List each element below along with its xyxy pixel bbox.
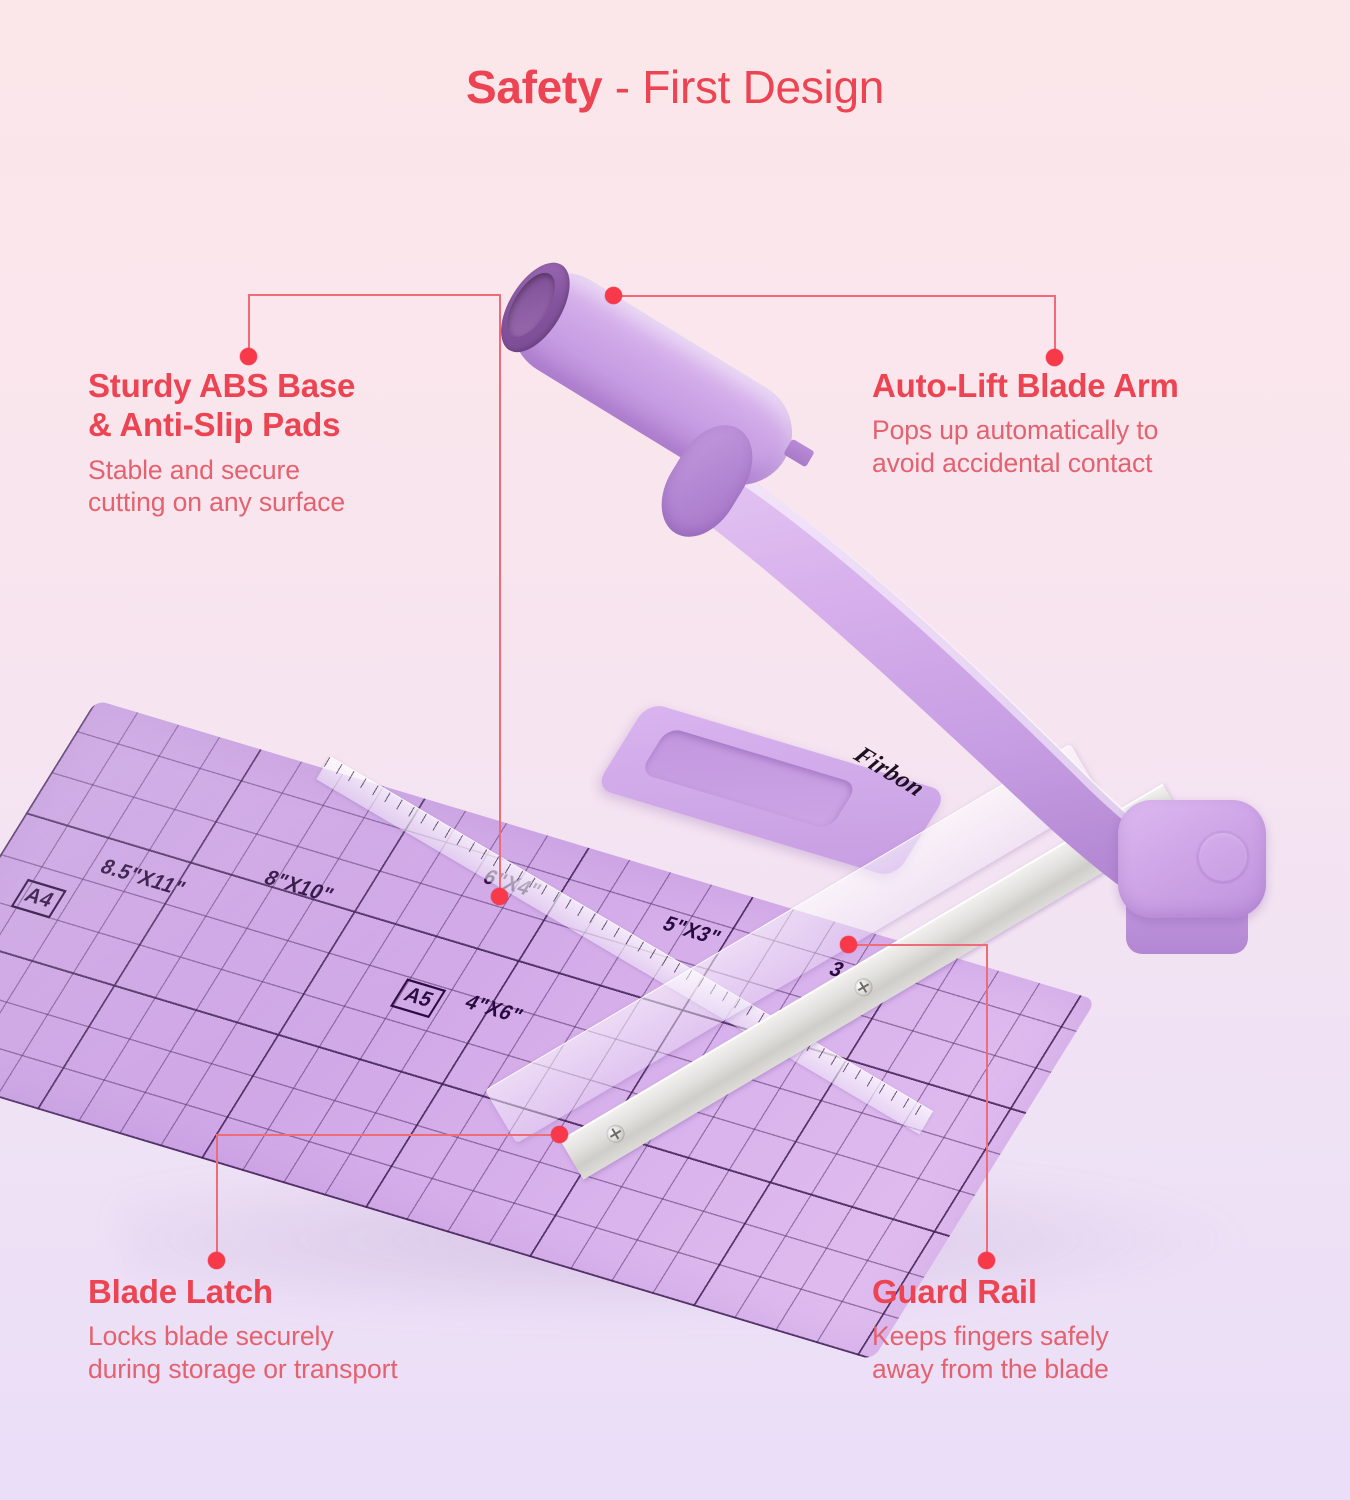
leader-latch-seg2 [216,1134,218,1260]
leader-abs-seg1 [248,294,250,356]
pointer-dot-abs-text [240,348,257,365]
leader-guard-seg2 [986,944,988,1260]
callout-auto-lift-blade-arm: Auto-Lift Blade Arm Pops up automaticall… [872,366,1292,480]
callout-heading: Sturdy ABS Base & Anti-Slip Pads [88,366,508,445]
infographic-canvas: Safety - First Design A4 8.5"X11" 8"X10"… [0,0,1350,1500]
pivot-cap [1196,830,1250,884]
callout-subtext: Locks blade securely during storage or t… [88,1320,558,1386]
pointer-dot-latch-text [208,1252,225,1269]
leader-latch-seg1 [216,1134,560,1136]
arm-pivot-hub [1118,800,1266,918]
callout-heading: Blade Latch [88,1272,558,1311]
pointer-dot-guard-target [840,936,857,953]
callout-heading: Guard Rail [872,1272,1272,1311]
pointer-dot-abs-target [491,888,508,905]
pointer-dot-arm-target [605,287,622,304]
callout-subtext: Keeps fingers safely away from the blade [872,1320,1272,1386]
leader-arm-seg1 [620,295,1056,297]
callout-subtext: Pops up automatically to avoid accidenta… [872,414,1292,480]
pointer-dot-arm-text [1046,349,1063,366]
callout-heading: Auto-Lift Blade Arm [872,366,1292,405]
leader-arm-seg2 [1054,295,1056,357]
callout-blade-latch: Blade Latch Locks blade securely during … [88,1272,558,1386]
callout-sturdy-abs-base: Sturdy ABS Base & Anti-Slip Pads Stable … [88,366,508,519]
pointer-dot-guard-text [978,1252,995,1269]
leader-guard-seg1 [848,944,988,946]
pointer-dot-latch-target [551,1126,568,1143]
callout-guard-rail: Guard Rail Keeps fingers safely away fro… [872,1272,1272,1386]
callout-subtext: Stable and secure cutting on any surface [88,454,508,520]
leader-abs-seg2 [248,294,500,296]
